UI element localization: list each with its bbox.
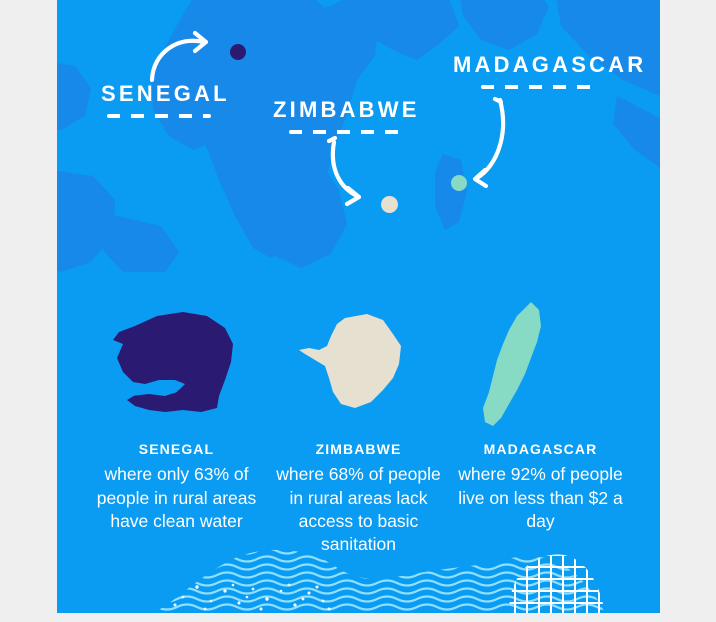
country-shapes-row: [57, 300, 660, 440]
caption-name-senegal: SENEGAL: [89, 442, 264, 457]
country-shape-senegal[interactable]: [109, 310, 259, 420]
caption-madagascar: MADAGASCAR where 92% of people live on l…: [453, 442, 628, 533]
callout-madagascar: MADAGASCAR: [453, 54, 646, 89]
callout-underline-senegal: [107, 114, 211, 118]
caption-body-madagascar: where 92% of people live on less than $2…: [453, 463, 628, 533]
location-dot-senegal[interactable]: [230, 44, 246, 60]
callout-underline-madagascar: [481, 85, 597, 89]
infographic-panel: SENEGAL ZIMBABWE MADAGASCAR: [57, 0, 660, 613]
location-dot-madagascar[interactable]: [451, 175, 467, 191]
callout-underline-zimbabwe: [289, 130, 405, 134]
callout-senegal: SENEGAL: [101, 83, 230, 118]
infographic-canvas: SENEGAL ZIMBABWE MADAGASCAR: [0, 0, 716, 622]
callout-label-senegal: SENEGAL: [101, 83, 230, 105]
curved-arrow-down-left-icon: [477, 100, 503, 178]
country-shape-madagascar[interactable]: [467, 300, 567, 432]
caption-name-madagascar: MADAGASCAR: [453, 442, 628, 457]
caption-senegal: SENEGAL where only 63% of people in rura…: [89, 442, 264, 533]
caption-name-zimbabwe: ZIMBABWE: [271, 442, 446, 457]
callout-zimbabwe: ZIMBABWE: [273, 99, 420, 134]
caption-zimbabwe: ZIMBABWE where 68% of people in rural ar…: [271, 442, 446, 556]
curved-arrow-down-icon: [333, 142, 357, 196]
wave-hill-pattern-icon: [57, 541, 660, 613]
curved-arrow-right-icon: [152, 41, 203, 80]
country-shape-zimbabwe[interactable]: [297, 312, 422, 422]
location-dot-zimbabwe[interactable]: [381, 196, 398, 213]
caption-body-senegal: where only 63% of people in rural areas …: [89, 463, 264, 533]
country-captions: SENEGAL where only 63% of people in rura…: [57, 442, 660, 556]
callout-label-zimbabwe: ZIMBABWE: [273, 99, 420, 121]
callout-label-madagascar: MADAGASCAR: [453, 54, 646, 76]
